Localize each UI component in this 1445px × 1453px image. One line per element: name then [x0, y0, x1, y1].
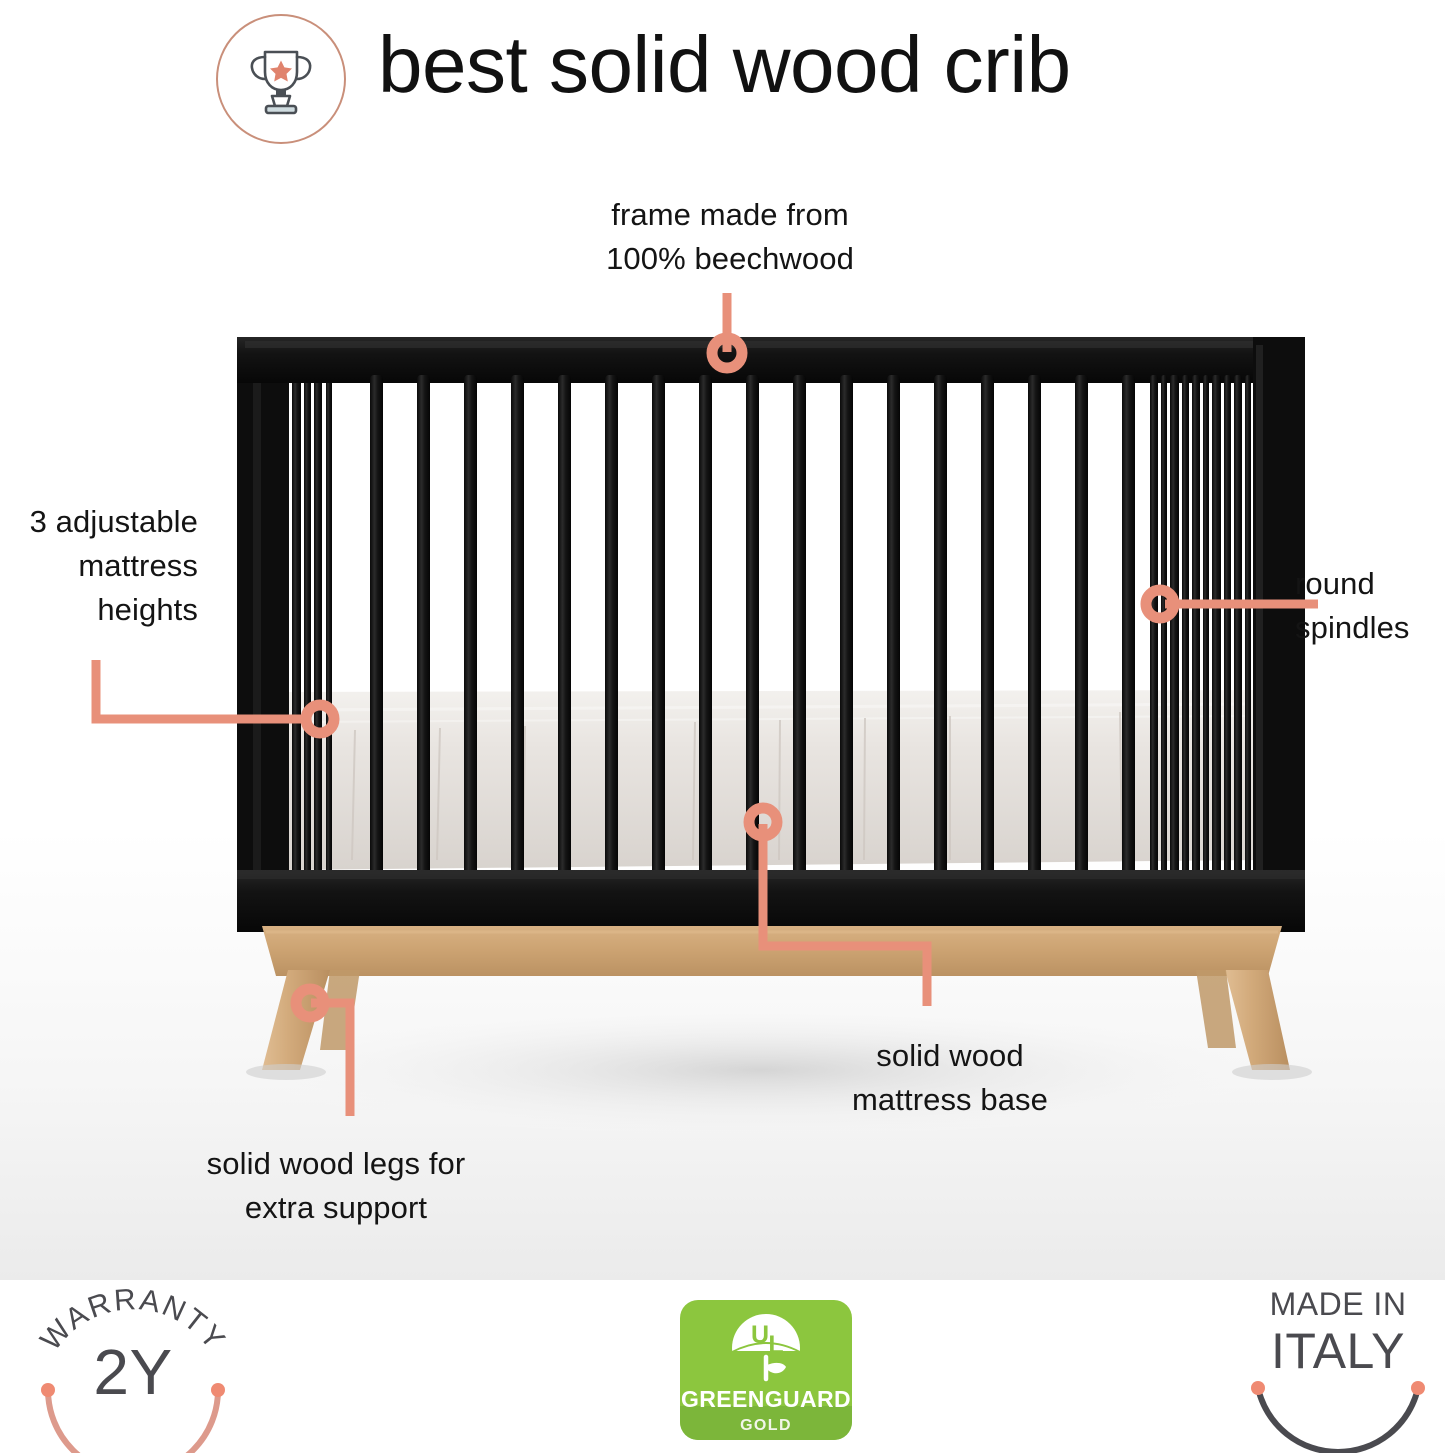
- callout-beechwood: frame made from 100% beechwood: [530, 193, 930, 281]
- callout-legs-line1: solid wood legs for: [140, 1142, 532, 1186]
- callout-heights-line1: 3 adjustable: [0, 500, 198, 544]
- greenguard-level: GOLD: [680, 1417, 852, 1435]
- greenguard-card: U L GREENGUARD GOLD: [680, 1300, 852, 1440]
- warranty-smile-arc: [18, 1280, 248, 1453]
- ul-leaf-icon: U L: [724, 1309, 808, 1387]
- callout-round-spindles: round spindles: [1295, 562, 1445, 650]
- callout-mattress-base: solid wood mattress base: [760, 1034, 1140, 1122]
- callout-mattress-heights: 3 adjustable mattress heights: [0, 500, 198, 632]
- callout-beechwood-line1: frame made from: [530, 193, 930, 237]
- product-photo: [0, 170, 1445, 1280]
- award-badge-circle: [216, 14, 346, 144]
- page-title: best solid wood crib: [378, 20, 1238, 110]
- badge-made-in-italy: MADE IN ITALY: [1238, 1280, 1438, 1453]
- callout-spindles-line2: spindles: [1295, 606, 1445, 650]
- italy-smile-arc: [1238, 1280, 1438, 1453]
- callout-base-line1: solid wood: [760, 1034, 1140, 1078]
- ul-letter-l: L: [768, 1331, 783, 1359]
- badge-greenguard: U L GREENGUARD GOLD: [672, 1280, 862, 1453]
- ul-letter-u: U: [751, 1321, 769, 1349]
- callout-base-line2: mattress base: [760, 1078, 1140, 1122]
- crib-illustration: [0, 170, 1445, 1280]
- greenguard-name: GREENGUARD: [680, 1386, 852, 1413]
- trophy-icon: [238, 36, 324, 122]
- certification-badges: WARRANTY 2Y U L: [0, 1280, 1445, 1453]
- callout-heights-line2: mattress: [0, 544, 198, 588]
- callout-beechwood-line2: 100% beechwood: [530, 237, 930, 281]
- callout-heights-line3: heights: [0, 588, 198, 632]
- callout-wood-legs: solid wood legs for extra support: [140, 1142, 532, 1230]
- callout-spindles-line1: round: [1295, 562, 1445, 606]
- product-infographic: best solid wood crib: [0, 0, 1445, 1453]
- badge-warranty: WARRANTY 2Y: [18, 1280, 248, 1453]
- callout-legs-line2: extra support: [140, 1186, 532, 1230]
- header: best solid wood crib: [0, 0, 1445, 170]
